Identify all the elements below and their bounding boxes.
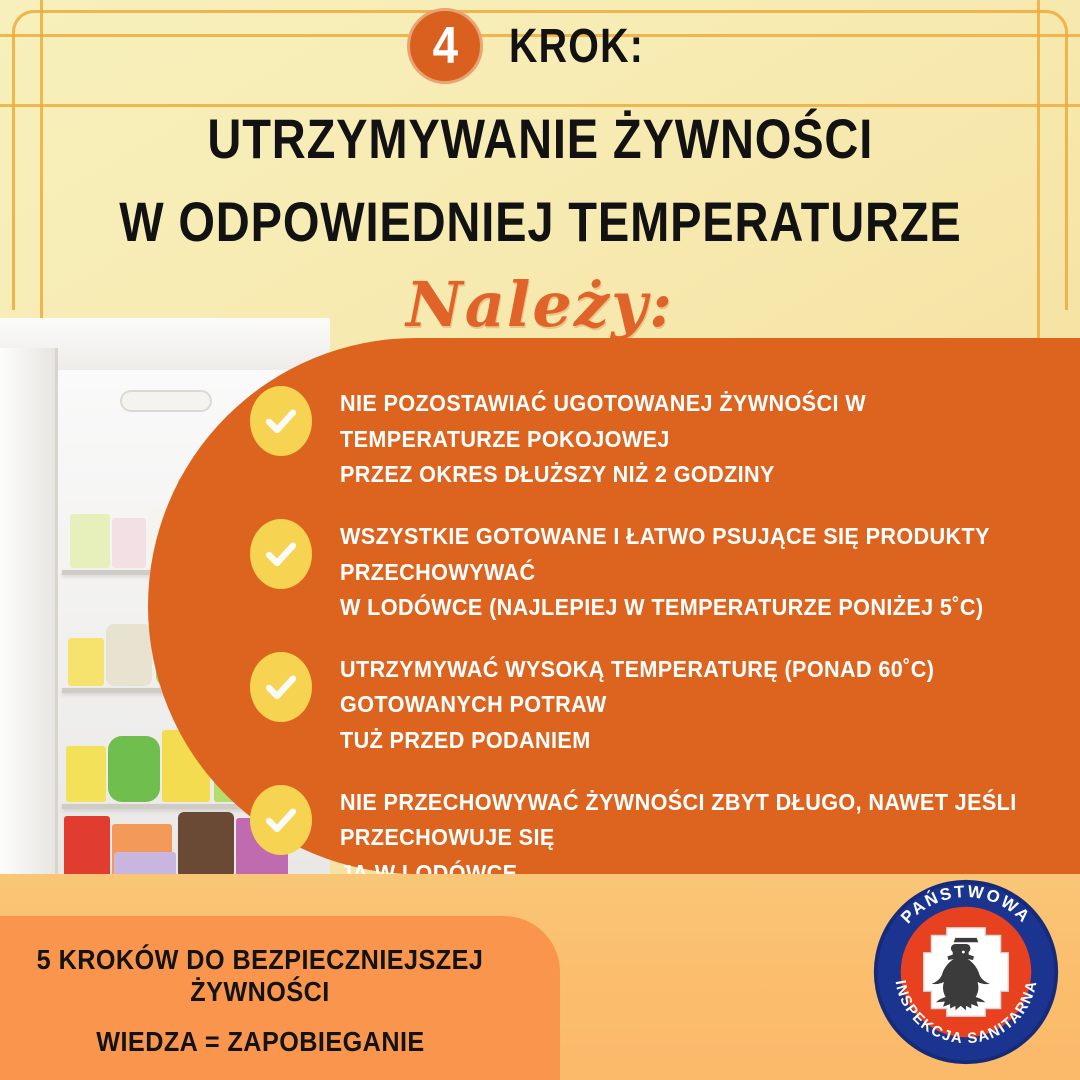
footer-line-2-text: WIEDZA = ZAPOBIEGANIE — [96, 1026, 424, 1058]
footer-text: 5 KROKÓW DO BEZPIECZNIEJSZEJ ŻYWNOŚCI WI… — [0, 944, 520, 1058]
list-item-line-1: NIE POZOSTAWIAĆ UGOTOWANEJ ŻYWNOŚCI W TE… — [340, 386, 1017, 457]
list-item-text: NIE POZOSTAWIAĆ UGOTOWANEJ ŻYWNOŚCI W TE… — [340, 382, 1060, 493]
footer-line-1-text: 5 KROKÓW DO BEZPIECZNIEJSZEJ ŻYWNOŚCI — [26, 944, 494, 1008]
food-item — [64, 816, 110, 878]
food-item — [66, 746, 106, 802]
step-label: KROK: — [509, 19, 644, 74]
food-item — [106, 624, 152, 686]
list-item-line-1: WSZYSTKIE GOTOWANE I ŁATWO PSUJĄCE SIĘ P… — [340, 519, 1017, 590]
list-item-line-2: TUŻ PRZED PODANIEM — [340, 723, 1017, 759]
title-line-2: W ODPOWIEDNIEJ TEMPERATURZE — [0, 189, 1080, 254]
step-number: 4 — [432, 20, 457, 72]
poster-header: 4 KROK: UTRZYMYWANIE ŻYWNOŚCI W ODPOWIED… — [0, 0, 1080, 341]
food-item — [70, 514, 110, 568]
list-item: WSZYSTKIE GOTOWANE I ŁATWO PSUJĄCE SIĘ P… — [250, 515, 1060, 626]
food-item — [108, 736, 160, 802]
check-icon — [250, 652, 312, 722]
check-icon — [250, 519, 312, 589]
list-item-line-1: NIE PRZECHOWYWAĆ ŻYWNOŚCI ZBYT DŁUGO, NA… — [340, 785, 1017, 856]
list-item: NIE POZOSTAWIAĆ UGOTOWANEJ ŻYWNOŚCI W TE… — [250, 382, 1060, 493]
title-line-2-text: W ODPOWIEDNIEJ TEMPERATURZE — [119, 189, 961, 254]
food-item — [178, 812, 234, 878]
step-row: 4 KROK: — [0, 8, 1080, 84]
list-item-line-1: UTRZYMYWAĆ WYSOKĄ TEMPERATURĘ (PONAD 60˚… — [340, 652, 1017, 723]
bullet-list: NIE POZOSTAWIAĆ UGOTOWANEJ ŻYWNOŚCI W TE… — [250, 382, 1060, 914]
footer-line-1: 5 KROKÓW DO BEZPIECZNIEJSZEJ ŻYWNOŚCI — [0, 944, 520, 1008]
fridge-door — [0, 348, 58, 878]
list-item-line-2: W LODÓWCE (NAJLEPIEJ W TEMPERATURZE PONI… — [340, 590, 1017, 626]
list-item: UTRZYMYWAĆ WYSOKĄ TEMPERATURĘ (PONAD 60˚… — [250, 648, 1060, 759]
list-item-line-2: PRZEZ OKRES DŁUŻSZY NIŻ 2 GODZINY — [340, 457, 1017, 493]
check-icon — [250, 785, 312, 855]
title-line-1: UTRZYMYWANIE ŻYWNOŚCI — [0, 106, 1080, 171]
step-number-badge: 4 — [407, 8, 483, 84]
list-item-text: WSZYSTKIE GOTOWANE I ŁATWO PSUJĄCE SIĘ P… — [340, 515, 1060, 626]
fridge-lamp-icon — [120, 390, 212, 412]
food-item — [112, 518, 146, 568]
check-icon — [250, 386, 312, 456]
infographic-poster: 4 KROK: UTRZYMYWANIE ŻYWNOŚCI W ODPOWIED… — [0, 0, 1080, 1080]
footer-line-2: WIEDZA = ZAPOBIEGANIE — [0, 1026, 520, 1058]
title-line-1-text: UTRZYMYWANIE ŻYWNOŚCI — [207, 106, 873, 171]
food-item — [68, 638, 104, 686]
list-item-text: UTRZYMYWAĆ WYSOKĄ TEMPERATURĘ (PONAD 60˚… — [340, 648, 1060, 759]
panstwowa-inspekcja-sanitarna-logo: PAŃSTWOWA INSPEKCJA SANITARNA — [870, 876, 1062, 1068]
